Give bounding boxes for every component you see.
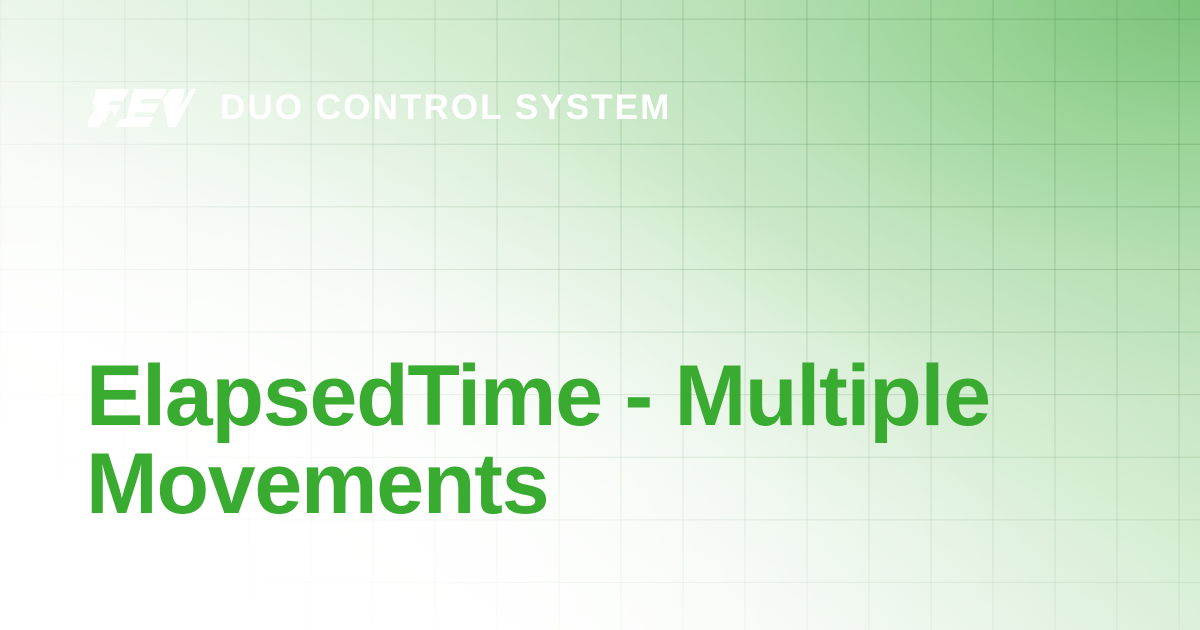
rev-robotics-logo-icon bbox=[88, 89, 196, 127]
page-title: ElapsedTime - Multiple Movements bbox=[86, 352, 1076, 528]
product-name-label: DUO CONTROL SYSTEM bbox=[220, 89, 671, 127]
brand-header: DUO CONTROL SYSTEM bbox=[88, 86, 671, 130]
og-card: DUO CONTROL SYSTEM ElapsedTime - Multipl… bbox=[0, 0, 1200, 630]
card-content: DUO CONTROL SYSTEM ElapsedTime - Multipl… bbox=[0, 0, 1200, 630]
page-title-line-1: ElapsedTime - Multiple bbox=[86, 352, 1076, 440]
page-title-line-2: Movements bbox=[86, 440, 1076, 528]
